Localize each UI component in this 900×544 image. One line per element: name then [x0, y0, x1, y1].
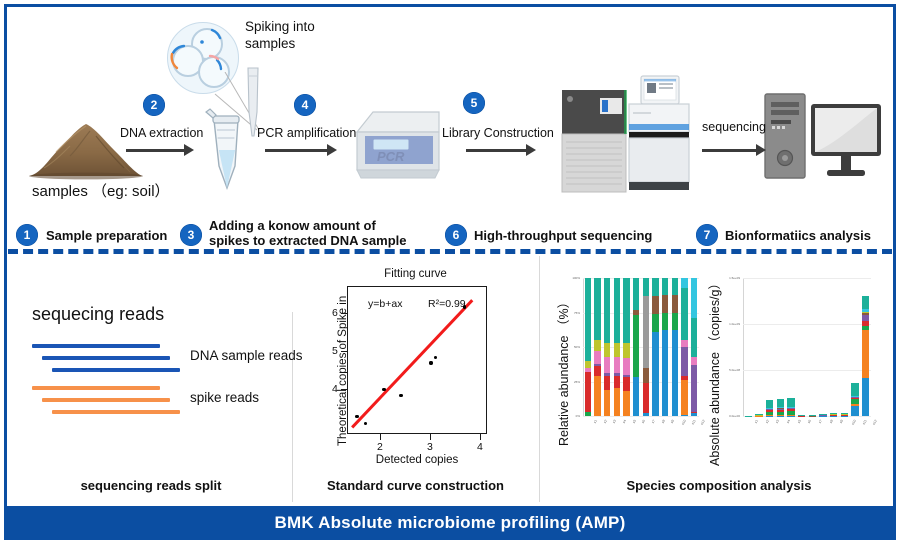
fitting-curve-xtick-4 [480, 434, 481, 440]
chart-bar-segment [862, 315, 869, 321]
chart-xtick-label: s7 [651, 419, 656, 424]
chart-bar-segment [851, 399, 858, 404]
fitting-curve-point [382, 388, 385, 391]
chart-bar-segment [851, 397, 858, 399]
chart-bar [662, 278, 669, 416]
chart-xtick-label: s6 [641, 419, 646, 424]
chart-xtick-label: s1 [593, 419, 598, 424]
chart-bar-segment [585, 372, 592, 412]
arrow-dna-extraction [126, 144, 196, 156]
fitting-curve-point [463, 305, 466, 308]
fitting-curve-xtick-3 [430, 434, 431, 440]
chart-bar-segment [652, 332, 659, 416]
chart-xtick-label: s8 [828, 419, 833, 424]
chart-bar-segment [766, 412, 773, 415]
chart-bar-segment [777, 407, 784, 408]
chart-bar-segment [862, 321, 869, 327]
chart-bar-segment [681, 376, 688, 380]
chart-bar-segment [862, 309, 869, 312]
chart-bar-segment [766, 409, 773, 410]
chart-bar [594, 278, 601, 416]
chart-xtick-label: s1 [754, 419, 759, 424]
chart-ytick-label: 25% [569, 380, 580, 384]
dna-reads-label: DNA sample reads [190, 348, 303, 363]
chart-bar-segment [862, 296, 869, 309]
chart-bar [672, 278, 679, 416]
chart-bar [798, 278, 805, 416]
chart-bar-segment [604, 373, 611, 376]
chart-bar-segment [585, 368, 592, 372]
chart-bar-segment [862, 326, 869, 330]
chart-bar [691, 278, 698, 416]
chart-bar-segment [862, 313, 869, 314]
species-composition-panel: Relative abundance （%） Absolute abundanc… [539, 256, 892, 502]
step-label-1: Sample preparation [46, 228, 167, 243]
chart-bar-segment [766, 410, 773, 412]
chart-bar [623, 278, 630, 416]
arrow-label-dna-extraction: DNA extraction [120, 126, 203, 140]
chart-ytick-label: 0% [569, 414, 580, 418]
chart-ytick-label: 0.0e+00 [721, 414, 740, 418]
spike-reads-label: spike reads [190, 390, 259, 405]
footer-title: BMK Absolute microbiome profiling (AMP) [275, 513, 626, 533]
chart-bar-segment [777, 399, 784, 407]
reads-panel: sequecing reads DNA sample reads spike r… [10, 256, 292, 502]
chart-bar-segment [662, 313, 669, 331]
chart-bar-segment [614, 376, 621, 388]
chart-xtick-label: s8 [661, 419, 666, 424]
chart-bar-segment [787, 398, 794, 407]
chart-xtick-label: s3 [775, 419, 780, 424]
chart-xtick-label: s3 [612, 419, 617, 424]
chart-bar [862, 278, 869, 416]
chart-bar-segment [851, 404, 858, 406]
chart-bar-segment [691, 278, 698, 318]
chart-bar-segment [585, 361, 592, 368]
chart-bar-segment [755, 414, 762, 415]
chart-bar-segment [787, 407, 794, 408]
chart-bar-segment [862, 378, 869, 416]
chart-ytick-label: 75% [569, 311, 580, 315]
relative-abundance-chart: 0%25%50%75%100%s1s2s3s4s5s6s7s8s9s10s11s… [569, 274, 699, 442]
chart-bar-segment [623, 377, 630, 391]
chart-ytick-label: 100% [569, 276, 580, 280]
chart-bar-segment [623, 375, 630, 378]
absolute-abundance-chart: 0.0e+005.0e+081.0e+091.5e+09s1s2s3s4s5s6… [721, 274, 871, 442]
chart-bar-segment [604, 343, 611, 357]
fitting-curve-data-layer [347, 286, 487, 434]
chart-bar-segment [594, 340, 601, 351]
chart-xtick-label: s5 [632, 419, 637, 424]
chart-bar-segment [614, 343, 621, 357]
step-badge-5: 5 [463, 92, 485, 114]
arrow-label-sequencing: sequencing [702, 120, 766, 134]
section-divider [8, 249, 892, 254]
chart-bar-segment [643, 296, 650, 368]
chart-bar-segment [766, 400, 773, 407]
chart-bar [755, 278, 762, 416]
chart-xtick-label: s12 [872, 419, 878, 426]
chart-bar-segment [652, 296, 659, 314]
chart-bar [787, 278, 794, 416]
arrow-label-library-construction: Library Construction [442, 126, 554, 140]
chart-bar-segment [681, 288, 688, 340]
fitting-curve-xtick-label-4: 4 [477, 441, 483, 453]
step-label-3: Adding a konow amount of spikes to extra… [209, 218, 406, 248]
chart-bar-segment [633, 278, 640, 310]
chart-bar [652, 278, 659, 416]
step-badge-2: 2 [143, 94, 165, 116]
fitting-curve-point [434, 356, 437, 359]
arrow-library-construction [466, 144, 538, 156]
chart-bar-segment [652, 278, 659, 296]
standard-curve-caption: Standard curve construction [292, 478, 539, 493]
computer-icon [763, 92, 883, 196]
chart-bar-segment [766, 408, 773, 409]
chart-bar-segment [691, 357, 698, 365]
chart-bar-segment [594, 351, 601, 363]
chart-ytick-label: 5.0e+08 [721, 368, 740, 372]
fitting-curve-point [355, 415, 358, 418]
chart-bar-segment [819, 414, 826, 415]
chart-bar [633, 278, 640, 416]
chart-bar [766, 278, 773, 416]
chart-bar-segment [787, 411, 794, 415]
chart-ytick-label: 50% [569, 345, 580, 349]
chart-xtick-label: s10 [851, 419, 857, 426]
fitting-curve-point [429, 361, 432, 364]
spike-read-line-2 [42, 398, 170, 402]
chart-bar-segment [691, 318, 698, 357]
fitting-curve-point [364, 422, 367, 425]
chart-bar-segment [633, 310, 640, 316]
chart-bar-segment [594, 376, 601, 416]
fitting-curve-ytick-label-6: 6 [332, 307, 338, 319]
step-badge-3: 3 [180, 224, 202, 246]
chart-bar-segment [777, 410, 784, 412]
chart-bar-segment [681, 380, 688, 415]
chart-bar-segment [594, 278, 601, 340]
chart-bar-segment [787, 407, 794, 408]
step-badge-1: 1 [16, 224, 38, 246]
chart-bar-segment [633, 315, 640, 377]
chart-bar-segment [585, 412, 592, 416]
chart-bar-segment [766, 408, 773, 409]
chart-bar [830, 278, 837, 416]
chart-bar-segment [614, 373, 621, 376]
step-badge-4: 4 [294, 94, 316, 116]
chart-xtick-label: s9 [670, 419, 675, 424]
chart-gridline [743, 416, 871, 417]
chart-bar [604, 278, 611, 416]
chart-bar-segment [672, 313, 679, 331]
chart-bar-segment [623, 343, 630, 358]
chart-bar-segment [643, 383, 650, 413]
chart-bar [777, 278, 784, 416]
chart-bar [809, 278, 816, 416]
chart-bar [585, 278, 592, 416]
chart-bar-segment [614, 357, 621, 374]
step-label-7: Bionformatiics analysis [725, 228, 871, 243]
fitting-curve-point [399, 394, 402, 397]
svg-text:PCR: PCR [377, 149, 405, 164]
chart-bar-segment [691, 365, 698, 412]
chart-bar [841, 278, 848, 416]
chart-bar-segment [681, 347, 688, 376]
chart-bar-segment [643, 368, 650, 383]
chart-bar-segment [604, 278, 611, 343]
fitting-curve-ytick-label-4: 4 [332, 383, 338, 395]
chart-bar-segment [681, 340, 688, 347]
chart-xtick-label: s2 [603, 419, 608, 424]
species-composition-caption: Species composition analysis [569, 478, 869, 493]
fitting-curve-xlabel: Detected copies [347, 454, 487, 466]
chart-xtick-label: s5 [796, 419, 801, 424]
chart-xtick-label: s4 [786, 419, 791, 424]
sequencer-console-icon [623, 74, 695, 196]
chart-bar-segment [672, 278, 679, 295]
chart-bar-segment [851, 383, 858, 396]
arrow-label-pcr-amplification: PCR amplification [257, 126, 356, 140]
chart-bar-segment [623, 391, 630, 416]
reads-panel-caption: sequencing reads split [10, 478, 292, 493]
chart-bar-segment [862, 312, 869, 313]
eppendorf-tube-icon [204, 108, 250, 194]
chart-ytick-label: 1.5e+09 [721, 276, 740, 280]
chart-bar-segment [777, 408, 784, 409]
step-badge-6: 6 [445, 224, 467, 246]
chart-bar-segment [681, 415, 688, 416]
fitting-curve-xtick-2 [380, 434, 381, 440]
chart-bar [819, 278, 826, 416]
chart-xtick-label: s6 [807, 419, 812, 424]
chart-bar-segment [662, 278, 669, 295]
chart-bar-segment [604, 357, 611, 374]
chart-bar-segment [633, 377, 640, 416]
chart-bar-segment [830, 413, 837, 414]
chart-xtick-label: s7 [818, 419, 823, 424]
reads-panel-title: sequecing reads [32, 304, 164, 325]
chart-bar-segment [623, 278, 630, 343]
chart-bar-segment [594, 366, 601, 376]
chart-bar-segment [691, 412, 698, 413]
chart-bar-segment [662, 295, 669, 313]
chart-bar [614, 278, 621, 416]
chart-bar-segment [672, 330, 679, 416]
fitting-curve-regression-line [351, 300, 473, 429]
fitting-curve-title: Fitting curve [292, 268, 539, 280]
chart-bar-segment [787, 409, 794, 411]
chart-bar-segment [841, 415, 848, 416]
spike-read-line-3 [52, 410, 180, 414]
chart-ytick-label: 1.0e+09 [721, 322, 740, 326]
chart-bar-segment [691, 413, 698, 416]
dna-read-line-3 [52, 368, 180, 372]
chart-bar-segment [643, 278, 650, 296]
chart-bar-segment [652, 314, 659, 332]
fitting-curve-ytick-label-5: 5 [332, 345, 338, 357]
chart-bar [851, 278, 858, 416]
workflow-panel: samples （eg: soil） Spiking into samples [8, 8, 892, 248]
chart-xtick-label: s2 [764, 419, 769, 424]
dna-read-line-1 [32, 344, 160, 348]
chart-bar-segment [662, 330, 669, 416]
chart-bar-segment [672, 295, 679, 313]
chart-bar [681, 278, 688, 416]
fitting-curve-xtick-label-2: 2 [377, 441, 383, 453]
chart-bar-segment [604, 376, 611, 390]
chart-xtick-label: s10 [681, 419, 687, 426]
footer-banner: BMK Absolute microbiome profiling (AMP) [4, 506, 896, 540]
chart-bar-segment [681, 278, 688, 288]
chart-xtick-label: s11 [690, 419, 696, 426]
chart-bar-segment [777, 409, 784, 410]
spiking-callout: Spiking into samples [245, 18, 315, 52]
standard-curve-panel: Fitting curve Theoretical copies of Spik… [292, 256, 539, 502]
chart-bar-segment [777, 412, 784, 416]
pcr-thermocycler-icon: PCR [351, 98, 445, 184]
chart-gridline [583, 416, 699, 417]
dna-read-line-2 [42, 356, 170, 360]
chart-xtick-label: s4 [622, 419, 627, 424]
arrow-pcr-amplification [265, 144, 339, 156]
chart-xtick-label: s9 [839, 419, 844, 424]
sample-caption: samples （eg: soil） [32, 180, 170, 201]
chart-bar-segment [643, 413, 650, 416]
sequencer-icon [558, 88, 630, 196]
chart-bar-segment [614, 278, 621, 343]
chart-bar [643, 278, 650, 416]
chart-xtick-label: s11 [861, 419, 867, 426]
spike-read-line-1 [32, 386, 160, 390]
chart-bar-segment [585, 278, 592, 361]
chart-bar-segment [594, 364, 601, 367]
chart-bar-segment [623, 358, 630, 375]
step-label-6: High-throughput sequencing [474, 228, 652, 243]
chart-bar-segment [604, 390, 611, 416]
chart-bar-segment [830, 415, 837, 416]
figure-root: samples （eg: soil） Spiking into samples [0, 0, 900, 544]
step-badge-7: 7 [696, 224, 718, 246]
chart-bar-segment [787, 408, 794, 409]
chart-bar-segment [614, 388, 621, 416]
chart-bar-segment [862, 330, 869, 378]
chart-bar-segment [851, 406, 858, 416]
fitting-curve-xtick-label-3: 3 [427, 441, 433, 453]
chart-bar [745, 278, 752, 416]
chart-bar-segment [841, 413, 848, 414]
arrow-sequencing [702, 144, 768, 156]
